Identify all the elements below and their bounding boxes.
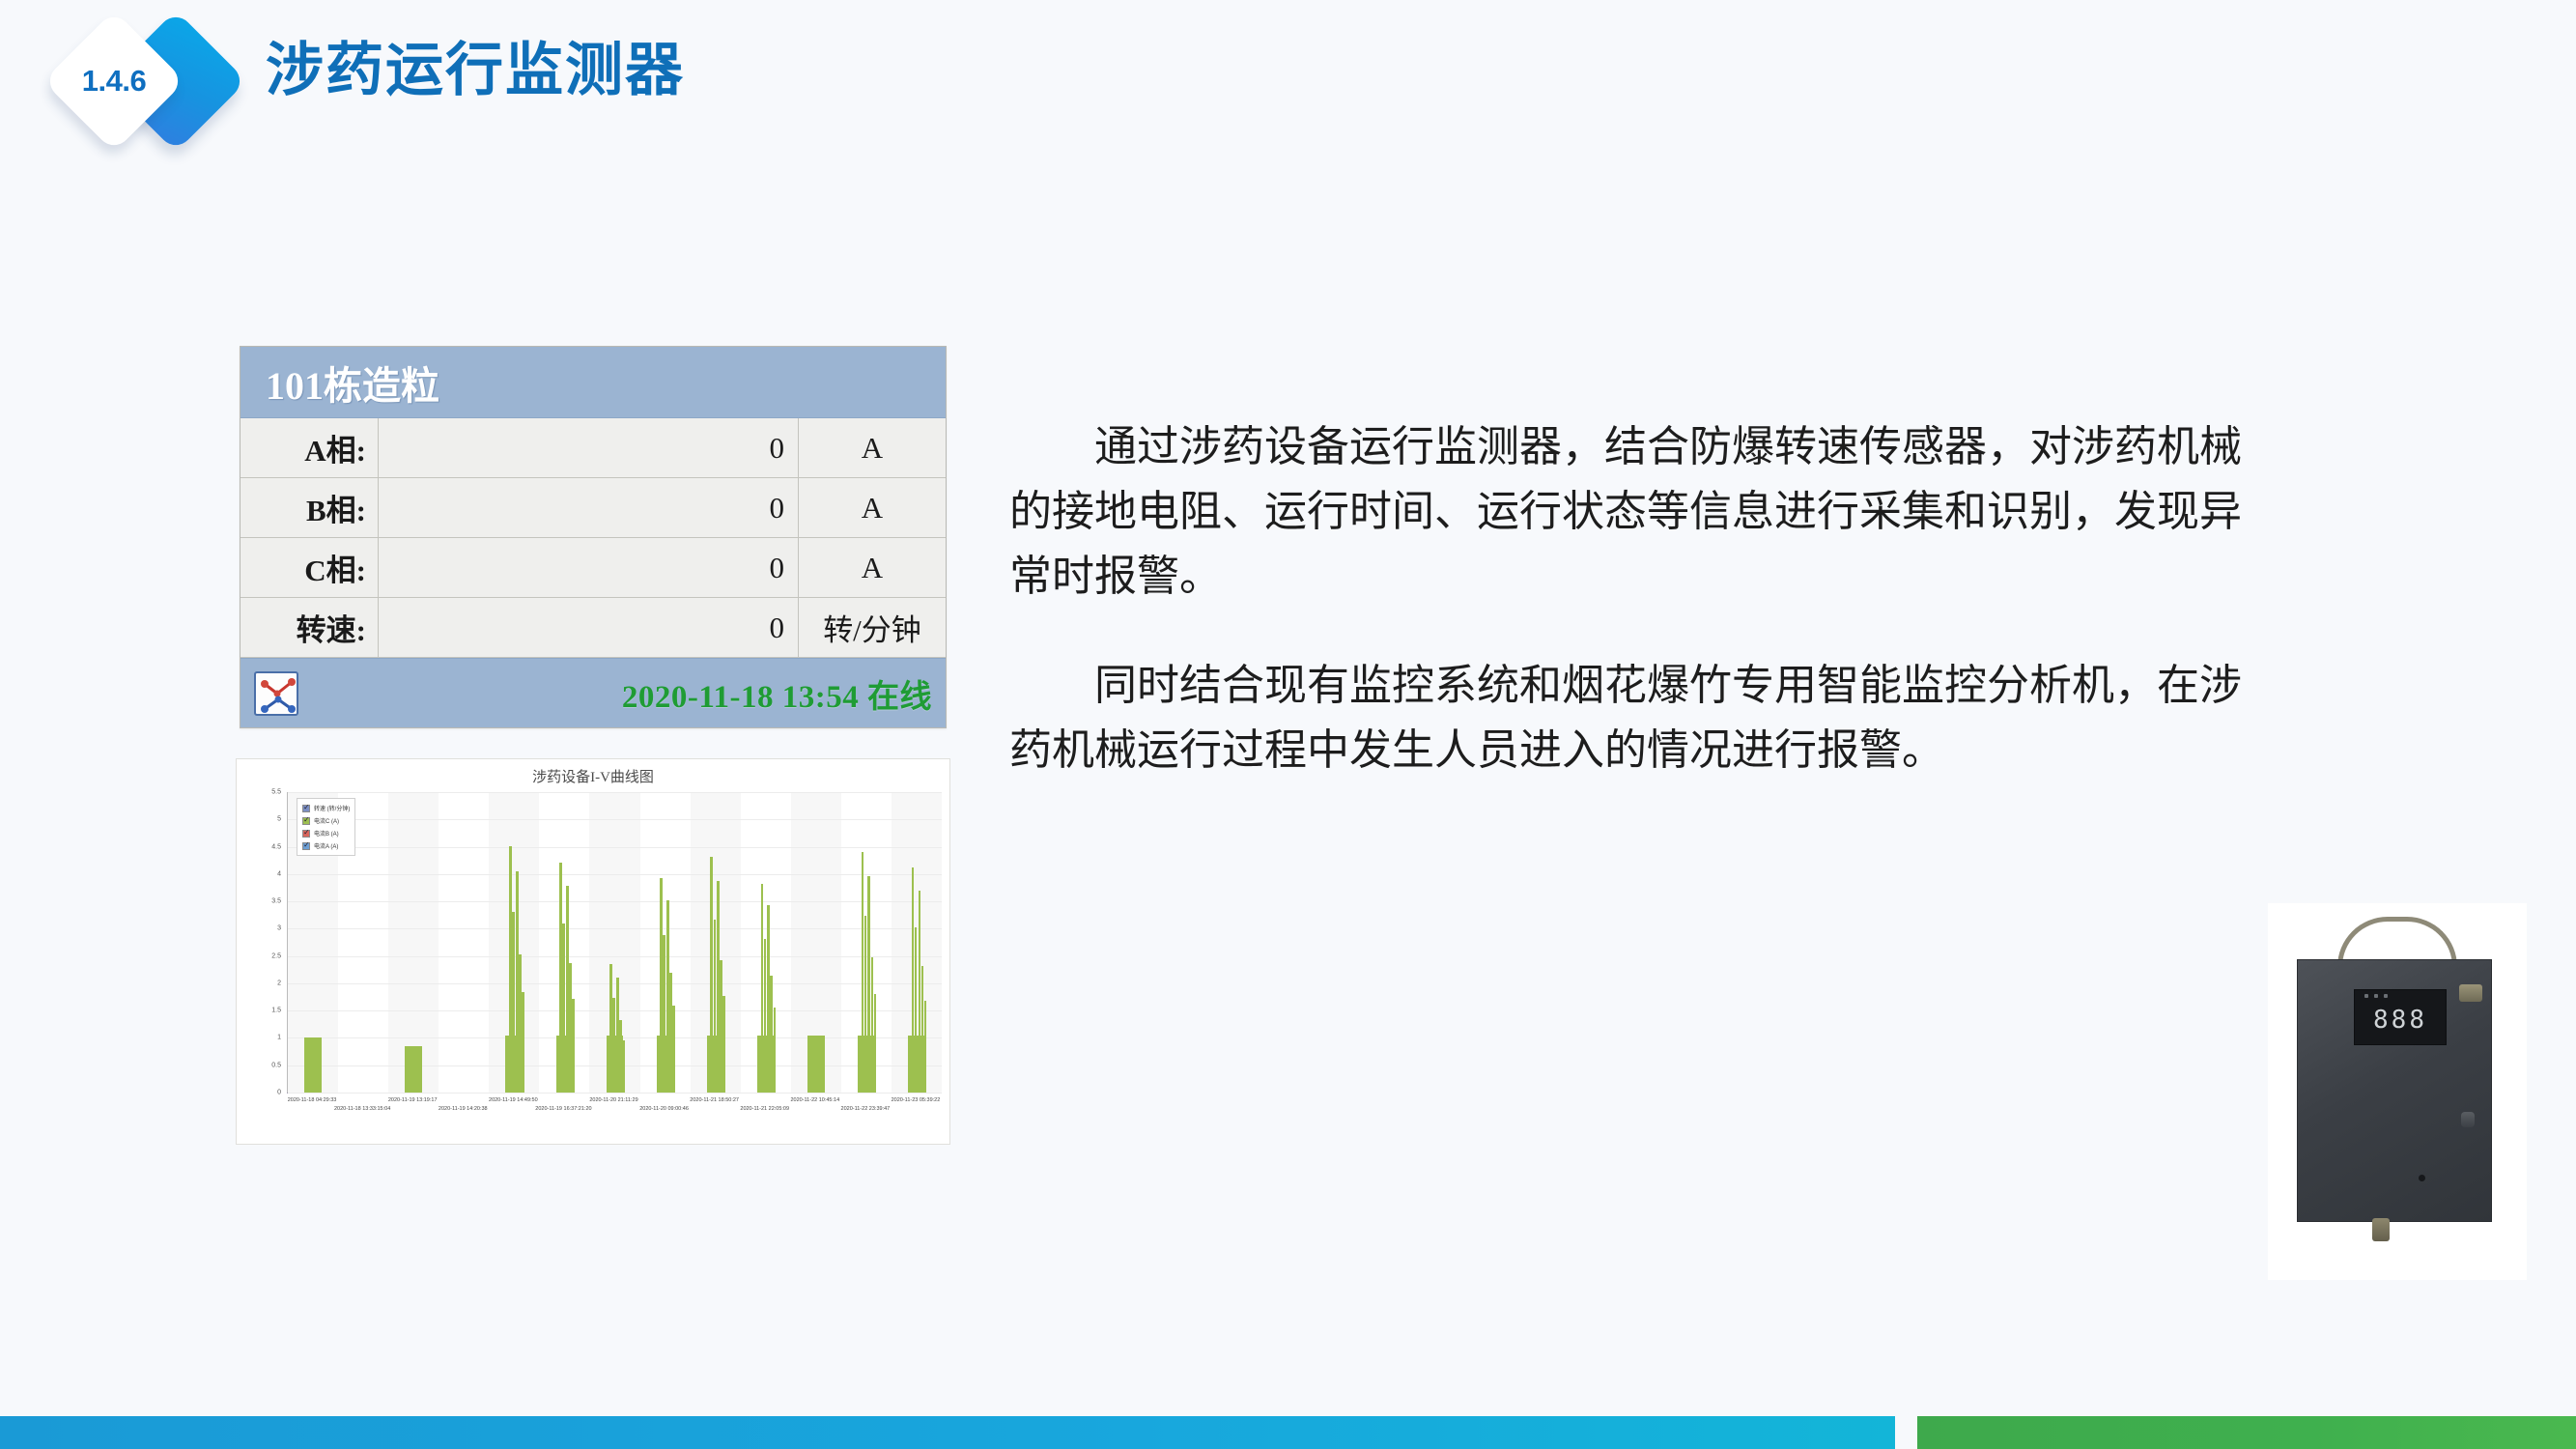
- chart-bar-spike: [672, 1006, 675, 1093]
- chart-bar-spike: [774, 1008, 777, 1093]
- legend-item[interactable]: 电流C (A): [302, 814, 350, 827]
- chart-x-tick: 2020-11-22 23:39:47: [841, 1106, 891, 1114]
- chart-x-tick: 2020-11-21 18:50:27: [690, 1097, 739, 1105]
- table-row: C相: 0 A: [241, 538, 946, 598]
- chart-gridline: [288, 956, 942, 957]
- chart-bar-spike: [522, 992, 524, 1093]
- legend-item[interactable]: 电流A (A): [302, 839, 350, 852]
- footer-gap: [1895, 1416, 1917, 1449]
- monitor-panel-statusbar: 2020-11-18 13:54 在线: [241, 658, 946, 727]
- chart-x-tick: 2020-11-19 14:20:38: [439, 1106, 488, 1114]
- chart-x-tick: 2020-11-18 04:29:33: [288, 1097, 337, 1105]
- legend-item[interactable]: 电流B (A): [302, 827, 350, 839]
- chart-gridline: [288, 928, 942, 929]
- slide-header: 1.4.6 涉药运行监测器: [0, 0, 2576, 193]
- row-label-phase-b: B相:: [241, 478, 379, 537]
- chart-gridline: [288, 792, 942, 793]
- table-row: 转速: 0 转/分钟: [241, 598, 946, 658]
- chart-plot-area: [287, 792, 942, 1094]
- chart-x-axis-ticks: 2020-11-18 04:29:332020-11-18 13:33:15:0…: [287, 1097, 942, 1130]
- row-label-rotation-speed: 转速:: [241, 598, 379, 657]
- led-icon: [2374, 994, 2378, 998]
- checkbox-icon[interactable]: [302, 842, 310, 850]
- row-value-phase-c: 0: [379, 538, 799, 597]
- chart-bar: [807, 1036, 825, 1093]
- chart-y-tick: 2: [277, 980, 281, 986]
- status-badge: 2020-11-18 13:54 在线: [622, 670, 932, 717]
- chart-y-tick: 4.5: [271, 843, 281, 850]
- slide-root: 1.4.6 涉药运行监测器 101栋造粒 A相: 0 A B相: 0 A C相:…: [0, 0, 2576, 1449]
- body-paragraph-1: 通过涉药设备运行监测器，结合防爆转速传感器，对涉药机械的接地电阻、运行时间、运行…: [1009, 415, 2255, 610]
- chart-bar-spike: [915, 927, 918, 1093]
- device-indicator-leds: [2364, 994, 2388, 998]
- device-connector-bottom: [2372, 1218, 2390, 1241]
- chart-bar-spike: [864, 916, 867, 1093]
- footer-bar-blue: [0, 1416, 1895, 1449]
- chart-y-tick: 0: [277, 1090, 281, 1096]
- chart-gridline: [288, 983, 942, 984]
- chart-y-tick: 1: [277, 1035, 281, 1041]
- chart-bar-spike: [612, 998, 615, 1093]
- device-connector-right-top: [2459, 984, 2482, 1002]
- row-value-phase-b: 0: [379, 478, 799, 537]
- table-row: A相: 0 A: [241, 418, 946, 478]
- row-unit-phase-c: A: [799, 538, 946, 597]
- badge-number-text: 1.4.6: [64, 31, 164, 131]
- body-paragraph-2: 同时结合现有监控系统和烟花爆竹专用智能监控分析机，在涉药机械运行过程中发生人员进…: [1009, 654, 2255, 783]
- chart-y-tick: 3.5: [271, 898, 281, 905]
- checkbox-icon[interactable]: [302, 830, 310, 838]
- chart-gridline: [288, 1093, 942, 1094]
- legend-label: 转速 (转/分钟): [314, 804, 350, 812]
- monitor-panel-header: 101栋造粒: [241, 347, 946, 418]
- chart-bar: [304, 1037, 322, 1093]
- chart-bar-spike: [722, 996, 725, 1093]
- network-nodes-icon[interactable]: [254, 671, 298, 716]
- chart-y-axis-ticks: 5.554.543.532.521.510.50: [246, 792, 285, 1094]
- checkbox-icon[interactable]: [302, 817, 310, 825]
- row-unit-phase-b: A: [799, 478, 946, 537]
- device-display-digits: 888: [2355, 1006, 2446, 1035]
- iv-curve-chart: 涉药设备I-V曲线图 5.554.543.532.521.510.50 转速 (…: [236, 758, 950, 1145]
- chart-bar-spike: [874, 994, 877, 1093]
- footer-bar-green: [1917, 1416, 2576, 1449]
- chart-gridline: [288, 874, 942, 875]
- chart-gridline: [288, 847, 942, 848]
- chart-legend[interactable]: 转速 (转/分钟)电流C (A)电流B (A)电流A (A): [297, 798, 355, 856]
- chart-bar-spike: [572, 999, 575, 1093]
- chart-x-tick: 2020-11-22 10:45:14: [790, 1097, 839, 1105]
- led-icon: [2364, 994, 2368, 998]
- chart-y-tick: 0.5: [271, 1062, 281, 1068]
- chart-y-tick: 5.5: [271, 789, 281, 796]
- legend-label: 电流B (A): [314, 829, 339, 838]
- chart-bar-spike: [663, 935, 665, 1093]
- row-unit-rotation-speed: 转/分钟: [799, 598, 946, 657]
- row-unit-phase-a: A: [799, 418, 946, 477]
- chart-gridline: [288, 901, 942, 902]
- chart-x-tick: 2020-11-20 21:11:29: [589, 1097, 637, 1105]
- device-screw-hole: [2419, 1175, 2425, 1181]
- row-value-rotation-speed: 0: [379, 598, 799, 657]
- chart-x-tick: 2020-11-19 13:19:17: [388, 1097, 438, 1105]
- row-value-phase-a: 0: [379, 418, 799, 477]
- chart-gridline: [288, 819, 942, 820]
- row-label-phase-a: A相:: [241, 418, 379, 477]
- chart-title: 涉药设备I-V曲线图: [237, 766, 949, 786]
- table-row: B相: 0 A: [241, 478, 946, 538]
- chart-x-tick: 2020-11-23 05:39:22: [892, 1097, 941, 1105]
- device-photo: 888: [2268, 903, 2527, 1280]
- chart-bar-spike: [512, 912, 515, 1093]
- section-number-badge: 1.4.6: [46, 19, 259, 145]
- monitor-panel-title: 101栋造粒: [266, 355, 439, 411]
- led-icon: [2384, 994, 2388, 998]
- chart-x-tick: 2020-11-19 16:37:21:20: [535, 1106, 591, 1114]
- chart-y-tick: 4: [277, 870, 281, 877]
- chart-bar-spike: [714, 920, 717, 1093]
- row-label-phase-c: C相:: [241, 538, 379, 597]
- chart-bar-spike: [622, 1040, 625, 1093]
- body-text: 通过涉药设备运行监测器，结合防爆转速传感器，对涉药机械的接地电阻、运行时间、运行…: [1009, 415, 2255, 782]
- monitor-panel: 101栋造粒 A相: 0 A B相: 0 A C相: 0 A 转速: 0 转/分…: [240, 346, 947, 728]
- legend-item[interactable]: 转速 (转/分钟): [302, 802, 350, 814]
- chart-bar-spike: [562, 923, 565, 1093]
- chart-x-tick: 2020-11-19 14:49:50: [489, 1097, 538, 1105]
- footer-bars: [0, 1416, 2576, 1449]
- page-title: 涉药运行监测器: [266, 37, 685, 103]
- chart-bar: [405, 1046, 422, 1093]
- chart-bar-spike: [764, 939, 767, 1093]
- chart-y-tick: 1.5: [271, 1008, 281, 1014]
- chart-x-tick: 2020-11-20 09:00:46: [639, 1106, 689, 1114]
- chart-y-tick: 5: [277, 816, 281, 823]
- chart-y-tick: 2.5: [271, 952, 281, 959]
- device-connector-right-bottom: [2461, 1112, 2475, 1127]
- legend-label: 电流C (A): [314, 816, 339, 825]
- checkbox-icon[interactable]: [302, 805, 310, 812]
- chart-x-tick: 2020-11-21 22:05:09: [740, 1106, 789, 1114]
- chart-bar-spike: [924, 1001, 927, 1093]
- device-display: 888: [2354, 989, 2447, 1045]
- chart-y-tick: 3: [277, 925, 281, 932]
- chart-x-tick: 2020-11-18 13:33:15:04: [334, 1106, 390, 1114]
- legend-label: 电流A (A): [314, 841, 338, 850]
- chart-band: [439, 792, 489, 1093]
